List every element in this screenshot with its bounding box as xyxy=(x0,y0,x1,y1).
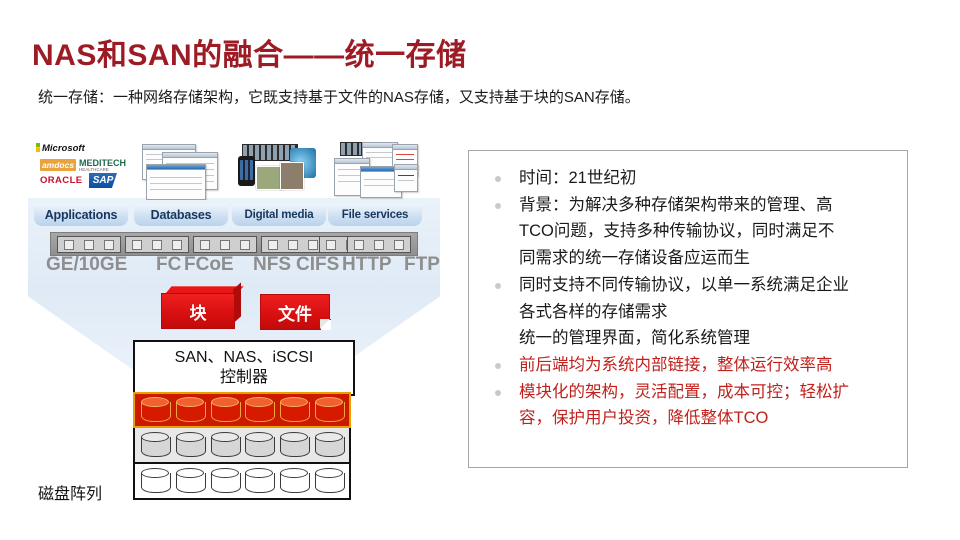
disk-array-row-idle xyxy=(133,428,351,464)
databases-windows-icon xyxy=(136,140,226,200)
category-applications: Microsoft amdocs MEDITECHHEALTHCARE ORAC… xyxy=(34,140,128,226)
list-item: 统一的管理界面，简化系统管理 xyxy=(481,325,893,352)
disk-icon xyxy=(141,468,169,494)
list-item: 同需求的统一存储设备应运而生 xyxy=(481,245,893,272)
protocol-label-http: HTTP xyxy=(342,254,392,276)
list-item: 模块化的架构，灵活配置，成本可控；轻松扩 xyxy=(481,379,893,406)
category-label: Applications xyxy=(34,204,128,226)
slide-root: NAS和SAN的融合――统一存储 统一存储：一种网络存储架构，它既支持基于文件的… xyxy=(0,0,960,540)
disk-icon xyxy=(245,468,273,494)
disk-array-row-active xyxy=(133,392,351,428)
disk-icon xyxy=(245,397,273,423)
controller-line-2: 控制器 xyxy=(220,368,268,388)
disk-icon xyxy=(176,397,204,423)
disk-icon xyxy=(141,432,169,458)
protocol-label-ge: GE/10GE xyxy=(46,254,127,276)
disk-icon xyxy=(280,468,308,494)
protocol-label-fc: FC xyxy=(156,254,181,276)
category-digital-media: Digital media xyxy=(232,140,326,226)
protocol-label-cifs: CIFS xyxy=(296,254,339,276)
protocol-label-row: GE/10GE FC FCoE NFS CIFS HTTP FTP xyxy=(46,254,446,278)
disk-icon xyxy=(211,432,239,458)
protocol-label-ftp: FTP xyxy=(404,254,440,276)
disk-icon xyxy=(280,432,308,458)
list-item: 各式各样的存储需求 xyxy=(481,299,893,326)
controller-box: SAN、NAS、iSCSI 控制器 xyxy=(133,340,355,396)
disk-array-row-free xyxy=(133,464,351,500)
unified-storage-diagram: Microsoft amdocs MEDITECHHEALTHCARE ORAC… xyxy=(28,140,440,510)
category-databases: Databases xyxy=(134,140,228,226)
bullet-list: 时间：21世纪初 背景：为解决多种存储架构带来的管理、高 TCO问题，支持多种传… xyxy=(469,151,907,432)
list-item: 前后端均为系统内部链接，整体运行效率高 xyxy=(481,352,893,379)
applications-collage-icon: Microsoft amdocs MEDITECHHEALTHCARE ORAC… xyxy=(36,140,126,200)
page-fold-icon xyxy=(320,319,331,330)
disk-icon xyxy=(176,432,204,458)
block-type-label: 块 xyxy=(161,293,235,329)
category-label: File services xyxy=(328,204,422,226)
category-row: Microsoft amdocs MEDITECHHEALTHCARE ORAC… xyxy=(34,140,434,226)
list-item: 容，保护用户投资，降低整体TCO xyxy=(481,405,893,432)
controller-line-1: SAN、NAS、iSCSI xyxy=(175,348,314,368)
list-item: 同时支持不同传输协议，以单一系统满足企业 xyxy=(481,272,893,299)
protocol-label-fcoe: FCoE xyxy=(184,254,234,276)
list-item: 时间：21世纪初 xyxy=(481,165,893,192)
list-item: TCO问题，支持多种传输协议，同时满足不 xyxy=(481,218,893,245)
list-item: 背景：为解决多种存储架构带来的管理、高 xyxy=(481,192,893,219)
page-title: NAS和SAN的融合――统一存储 xyxy=(32,30,467,74)
disk-icon xyxy=(141,397,169,423)
disk-icon xyxy=(315,397,343,423)
disk-icon xyxy=(211,397,239,423)
disk-icon xyxy=(245,432,273,458)
digital-media-icon xyxy=(234,140,324,200)
category-label: Databases xyxy=(134,204,228,226)
disk-array-label: 磁盘阵列 xyxy=(38,480,102,504)
category-label: Digital media xyxy=(232,204,326,226)
disk-icon xyxy=(280,397,308,423)
protocol-chassis-bar xyxy=(50,232,418,256)
disk-icon xyxy=(315,468,343,494)
disk-icon xyxy=(176,468,204,494)
details-panel: 时间：21世纪初 背景：为解决多种存储架构带来的管理、高 TCO问题，支持多种传… xyxy=(468,150,908,468)
slide-subtitle: 统一存储：一种网络存储架构，它既支持基于文件的NAS存储，又支持基于块的SAN存… xyxy=(38,86,640,107)
category-file-services: File services xyxy=(328,140,422,226)
disk-array: 磁盘阵列 xyxy=(133,392,351,500)
protocol-label-nfs: NFS xyxy=(253,254,291,276)
disk-icon xyxy=(211,468,239,494)
file-services-icon xyxy=(330,140,420,200)
disk-icon xyxy=(315,432,343,458)
